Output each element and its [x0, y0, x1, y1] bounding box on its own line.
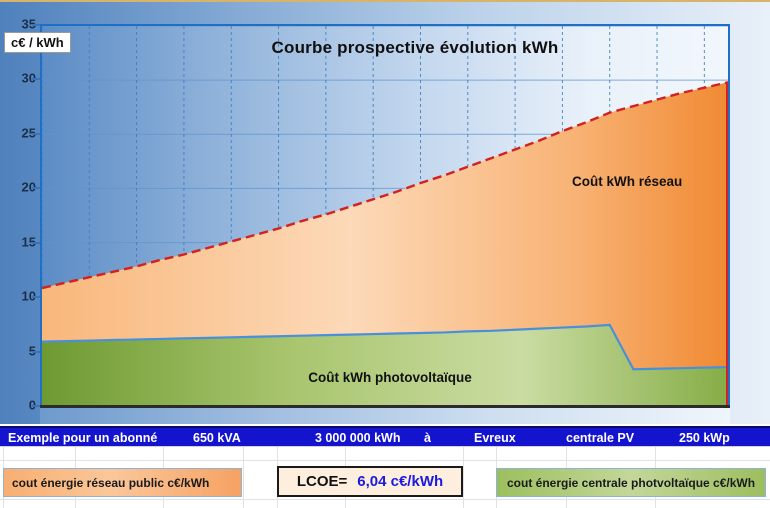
legend-network-cost: cout énergie réseau public c€/kWh — [3, 468, 242, 497]
y-axis-tick-mark — [32, 133, 40, 135]
y-axis-tick-mark — [32, 187, 40, 189]
annotation-network-cost: Coût kWh réseau — [572, 174, 682, 189]
info-bar-plant: centrale PV — [566, 431, 634, 445]
info-bar: Exemple pour un abonné 650 kVA 3 000 000… — [0, 426, 770, 447]
y-axis-tick-mark — [32, 405, 40, 407]
spreadsheet-chart-page: Courbe prospective évolution kWh c€ / kW… — [0, 0, 770, 508]
legend-pv-cost: cout énergie centrale photvoltaïque c€/k… — [496, 468, 766, 497]
grid-line — [243, 447, 244, 508]
y-axis-tick-mark — [32, 78, 40, 80]
x-axis: 2022202320242025202620272028202920302031… — [40, 405, 730, 424]
info-bar-consumption: 3 000 000 kWh — [315, 431, 400, 445]
chart-frame: Courbe prospective évolution kWh c€ / kW… — [0, 0, 770, 424]
info-bar-plant-size: 250 kWp — [679, 431, 730, 445]
y-axis-unit-badge: c€ / kWh — [4, 32, 71, 53]
info-bar-city: Evreux — [474, 431, 516, 445]
lcoe-label: LCOE= — [297, 473, 347, 490]
y-axis-tick-mark — [32, 351, 40, 353]
info-bar-power: 650 kVA — [193, 431, 241, 445]
plot-area — [40, 24, 730, 405]
legend-row: cout énergie réseau public c€/kWh LCOE=6… — [0, 447, 770, 508]
info-bar-label: Exemple pour un abonné — [8, 431, 157, 445]
annotation-pv-cost: Coût kWh photovoltaïque — [0, 370, 770, 385]
chart-svg — [42, 26, 728, 405]
grid-line — [463, 447, 464, 508]
lcoe-box: LCOE=6,04 c€/kWh — [277, 466, 463, 497]
y-axis-tick-mark — [32, 296, 40, 298]
chart-title: Courbe prospective évolution kWh — [0, 38, 770, 58]
lcoe-value: 6,04 c€/kWh — [357, 473, 443, 490]
info-bar-at: à — [424, 431, 431, 445]
y-axis-tick-mark — [32, 242, 40, 244]
y-axis-tick-mark — [32, 24, 40, 26]
